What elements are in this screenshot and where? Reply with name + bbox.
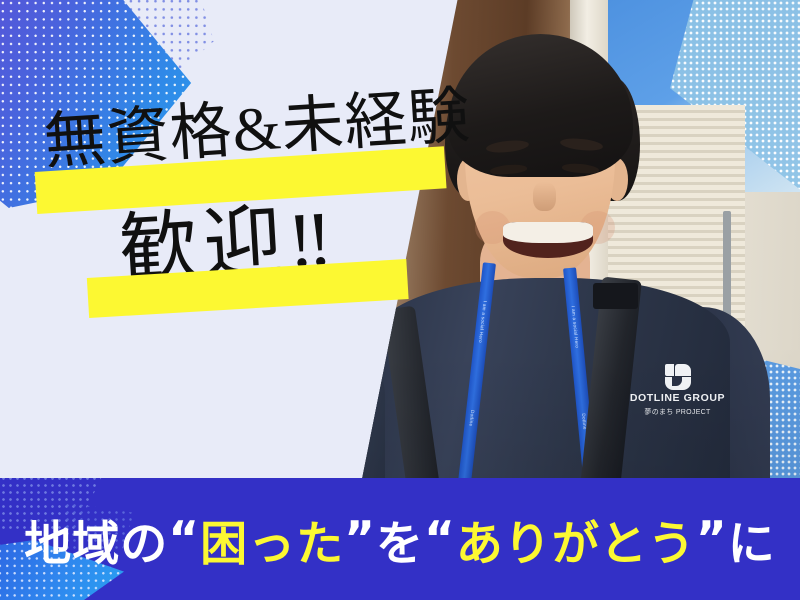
banner-segment-5: “	[424, 512, 456, 567]
banner-canvas: I am a social Hero Dotline I am a social…	[0, 0, 800, 600]
bottom-banner: 地域の“困った”を“ありがとう”に	[0, 478, 800, 600]
banner-tagline: 地域の“困った”を“ありがとう”に	[0, 478, 800, 600]
banner-segment-6: ありがとう	[456, 505, 696, 574]
banner-segment-0: 地域の	[24, 505, 168, 574]
banner-segment-4: を	[376, 505, 424, 574]
banner-segment-7: ”	[696, 512, 728, 567]
banner-segment-3: ”	[344, 512, 376, 567]
banner-segment-1: “	[168, 512, 200, 567]
banner-segment-2: 困った	[200, 505, 344, 574]
banner-segment-8: に	[728, 505, 776, 574]
headline-block: 無資格&未経験 歓迎‼	[0, 0, 500, 360]
